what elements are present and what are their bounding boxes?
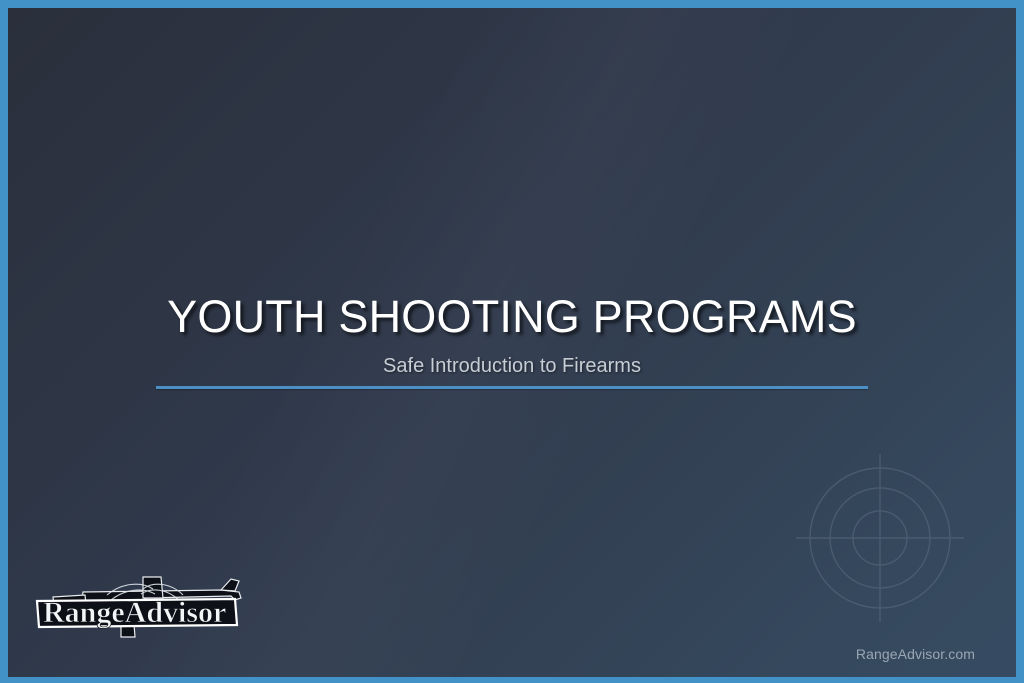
page-title: YOUTH SHOOTING PROGRAMS	[8, 290, 1016, 344]
crosshair-target-icon	[780, 438, 980, 638]
accent-divider	[156, 386, 868, 389]
brand-logo: RangeAdvisor	[25, 565, 265, 647]
slide-canvas: YOUTH SHOOTING PROGRAMS Safe Introductio…	[8, 8, 1016, 677]
footer-url: RangeAdvisor.com	[856, 645, 975, 663]
slide-frame: YOUTH SHOOTING PROGRAMS Safe Introductio…	[0, 0, 1024, 683]
title-block: YOUTH SHOOTING PROGRAMS Safe Introductio…	[8, 290, 1016, 379]
page-subtitle: Safe Introduction to Firearms	[8, 353, 1016, 379]
brand-wordmark: RangeAdvisor	[43, 596, 226, 629]
